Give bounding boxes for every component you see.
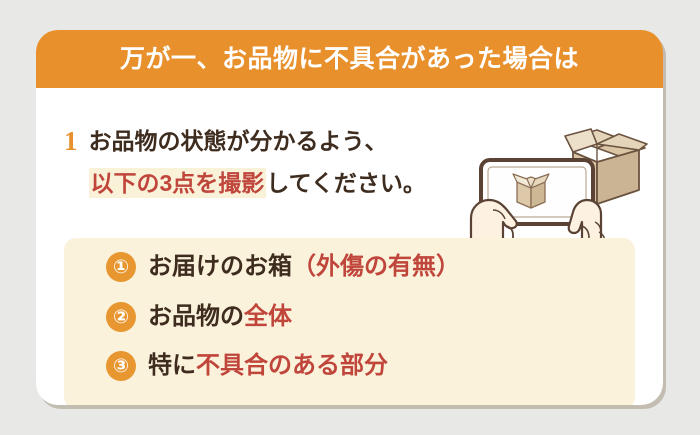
step-number: 1: [64, 124, 78, 158]
list-item-3-text: 特に不具合のある部分: [148, 351, 388, 381]
list-item: ① お届けのお箱（外傷の有無）: [106, 252, 460, 282]
list-item-2-accent: 全体: [244, 303, 292, 330]
list-item-3-accent: 不具合のある部分: [196, 352, 388, 379]
step-highlight-text: 以下の3点を撮影: [89, 168, 267, 198]
list-number-2: ②: [106, 302, 136, 332]
card-header: 万が一、お品物に不具合があった場合は: [36, 30, 663, 88]
step-text-lines: お品物の状態が分かるよう、 以下の3点を撮影してください。: [89, 124, 426, 200]
list-item-1-text: お届けのお箱（外傷の有無）: [148, 252, 460, 282]
step-line-1: お品物の状態が分かるよう、: [89, 124, 426, 158]
list-item-1-main: お届けのお箱: [148, 253, 292, 280]
list-item-2-text: お品物の全体: [148, 302, 292, 332]
step-1-block: 1 お品物の状態が分かるよう、 以下の3点を撮影してください。: [64, 124, 426, 200]
step-line-2-tail: してください。: [266, 170, 426, 196]
header-title: 万が一、お品物に不具合があった場合は: [120, 47, 579, 72]
photo-checklist-box: ① お届けのお箱（外傷の有無） ② お品物の全体 ③ 特に不具合のある部分: [64, 238, 635, 405]
list-number-3: ③: [106, 351, 136, 381]
list-item-3-main: 特に: [148, 352, 196, 379]
info-card: 万が一、お品物に不具合があった場合は 1 お品物の状態が分かるよう、 以下の3点…: [36, 30, 663, 405]
step-line-2: 以下の3点を撮影してください。: [89, 166, 426, 200]
list-item-1-accent: （外傷の有無）: [292, 253, 460, 280]
list-item: ② お品物の全体: [106, 302, 292, 332]
list-item: ③ 特に不具合のある部分: [106, 351, 388, 381]
list-number-1: ①: [106, 252, 136, 282]
illustration-hands-tablet-box: [469, 122, 659, 246]
list-item-2-main: お品物の: [148, 303, 244, 330]
card-body: 1 お品物の状態が分かるよう、 以下の3点を撮影してください。: [36, 88, 663, 405]
tablet-screen-box-preview-icon: [513, 174, 549, 208]
